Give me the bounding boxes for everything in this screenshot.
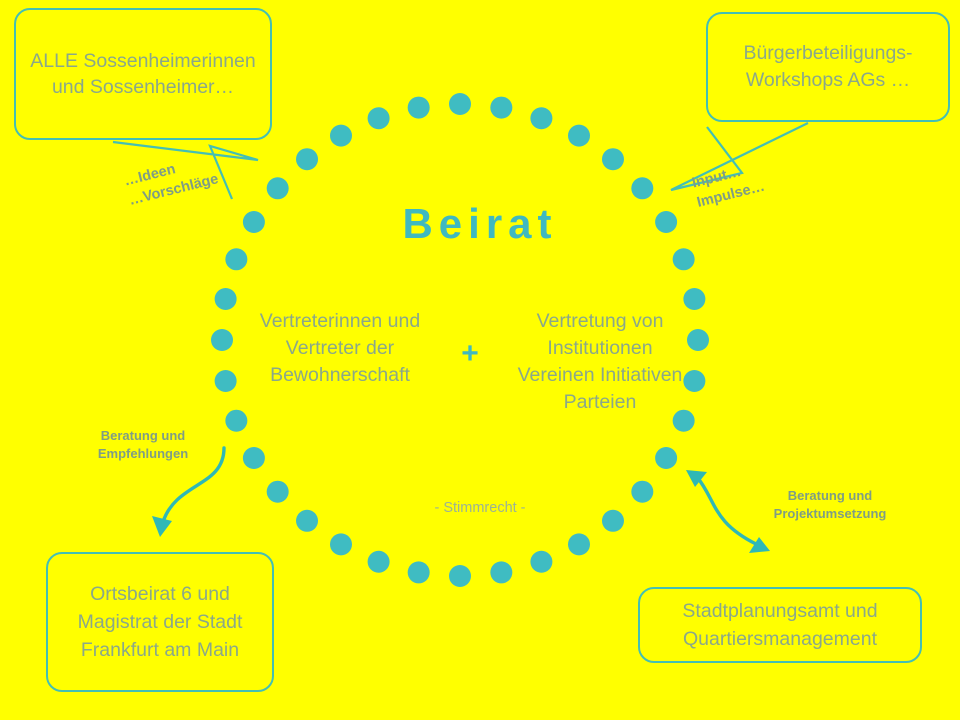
ring-dot	[673, 248, 695, 270]
ring-dot	[215, 288, 237, 310]
ring-dot	[490, 561, 512, 583]
ring-dot	[225, 410, 247, 432]
box-ortsbeirat: Ortsbeirat 6 und Magistrat der Stadt Fra…	[46, 552, 274, 692]
ring-dot	[368, 107, 390, 129]
arrow-right-head-lower	[749, 537, 770, 553]
caption-beratung-empfehlungen: Beratung undEmpfehlungen	[68, 427, 218, 463]
ring-dot	[368, 551, 390, 573]
ring-dot	[296, 148, 318, 170]
ring-dot	[655, 447, 677, 469]
box-stadtplanung: Stadtplanungsamt und Quartiersmanagement	[638, 587, 922, 663]
ring-dot	[568, 125, 590, 147]
box-ortsbeirat-text: Ortsbeirat 6 und Magistrat der Stadt Fra…	[48, 580, 272, 664]
caption-beratung-projektumsetzung: Beratung undProjektumsetzung	[740, 487, 920, 523]
column-institutions-label: Vertretung von Institutionen Vereinen In…	[518, 310, 683, 413]
ring-dot	[225, 248, 247, 270]
ring-dot	[267, 177, 289, 199]
ring-dot	[243, 447, 265, 469]
ring-dot	[330, 533, 352, 555]
arrow-left-head	[152, 516, 172, 537]
ring-dot	[330, 125, 352, 147]
ring-dot	[449, 93, 471, 115]
box-stadtplanung-text: Stadtplanungsamt und Quartiersmanagement	[640, 597, 920, 653]
ring-dot	[687, 329, 709, 351]
bubble-workshops: Bürgerbeteiligungs- Workshops AGs …	[706, 12, 950, 122]
ring-dot	[449, 565, 471, 587]
ring-dot	[408, 561, 430, 583]
ring-dot	[530, 107, 552, 129]
bubble-citizens-text: ALLE Sossenheimerinnen und Sossenheimer…	[16, 48, 270, 100]
ring-dot	[490, 97, 512, 119]
ring-dot	[211, 329, 233, 351]
column-residents: Vertreterinnen und Vertreter der Bewohne…	[250, 308, 430, 389]
ring-dot	[530, 551, 552, 573]
ring-dot	[568, 533, 590, 555]
diagram-canvas: Beirat Vertreterinnen und Vertreter der …	[0, 0, 960, 720]
bubble-workshops-text: Bürgerbeteiligungs- Workshops AGs …	[708, 40, 948, 94]
arrow-right-head-upper	[686, 470, 707, 487]
ring-dot	[408, 97, 430, 119]
ring-dot	[631, 177, 653, 199]
column-institutions: Vertretung von Institutionen Vereinen In…	[510, 308, 690, 416]
bubble-citizens: ALLE Sossenheimerinnen und Sossenheimer…	[14, 8, 272, 140]
ring-dot	[215, 370, 237, 392]
ring-dot	[602, 148, 624, 170]
ring-dot	[683, 288, 705, 310]
center-columns: Vertreterinnen und Vertreter der Bewohne…	[250, 308, 690, 416]
plus-icon: +	[449, 334, 491, 374]
column-residents-label: Vertreterinnen und Vertreter der Bewohne…	[260, 310, 420, 386]
